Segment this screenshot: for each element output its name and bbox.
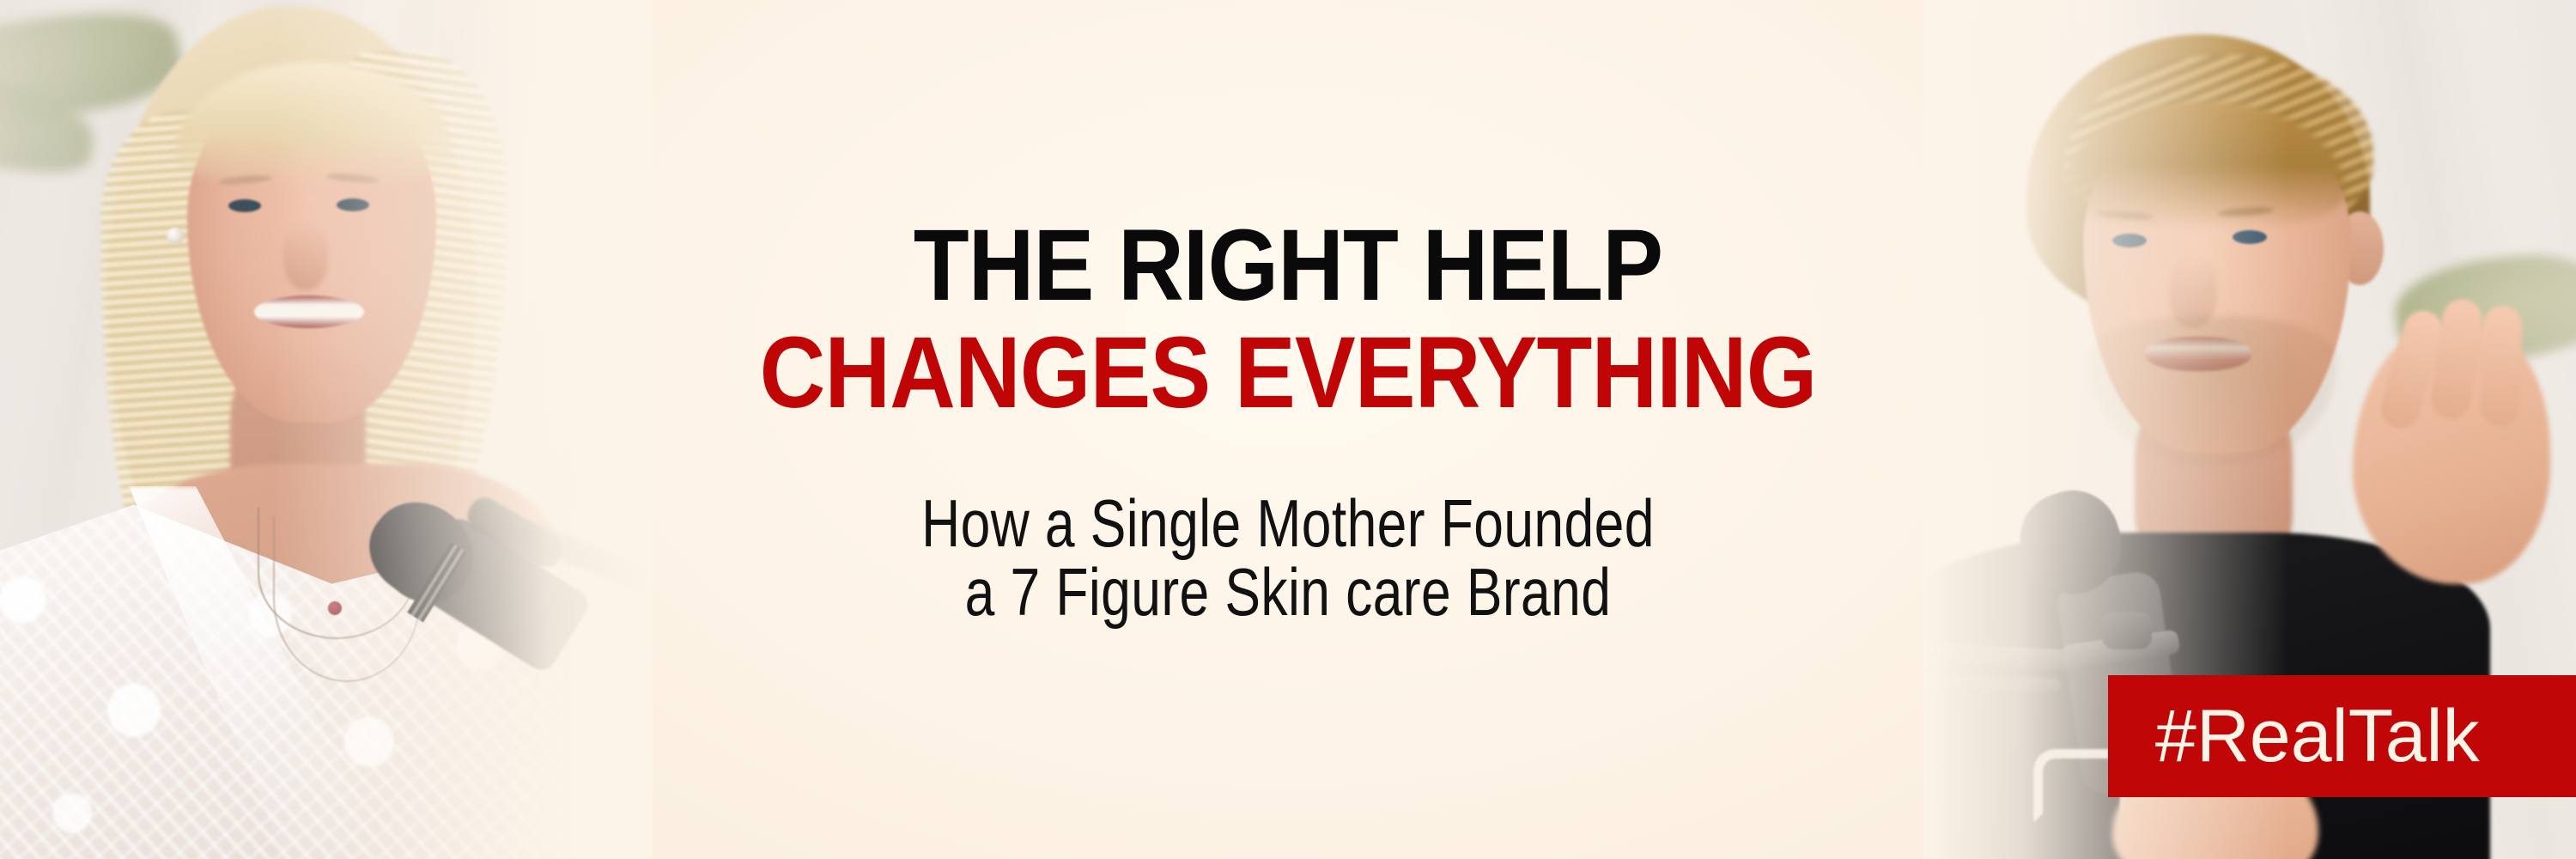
guest-portrait-left [0, 0, 653, 859]
hashtag-badge-label: #RealTalk [2155, 699, 2480, 773]
photo-fade-left [0, 0, 653, 859]
hashtag-badge[interactable]: #RealTalk [2108, 675, 2576, 797]
podcast-episode-banner: THE RIGHT HELP CHANGES EVERYTHING How a … [0, 0, 2576, 859]
